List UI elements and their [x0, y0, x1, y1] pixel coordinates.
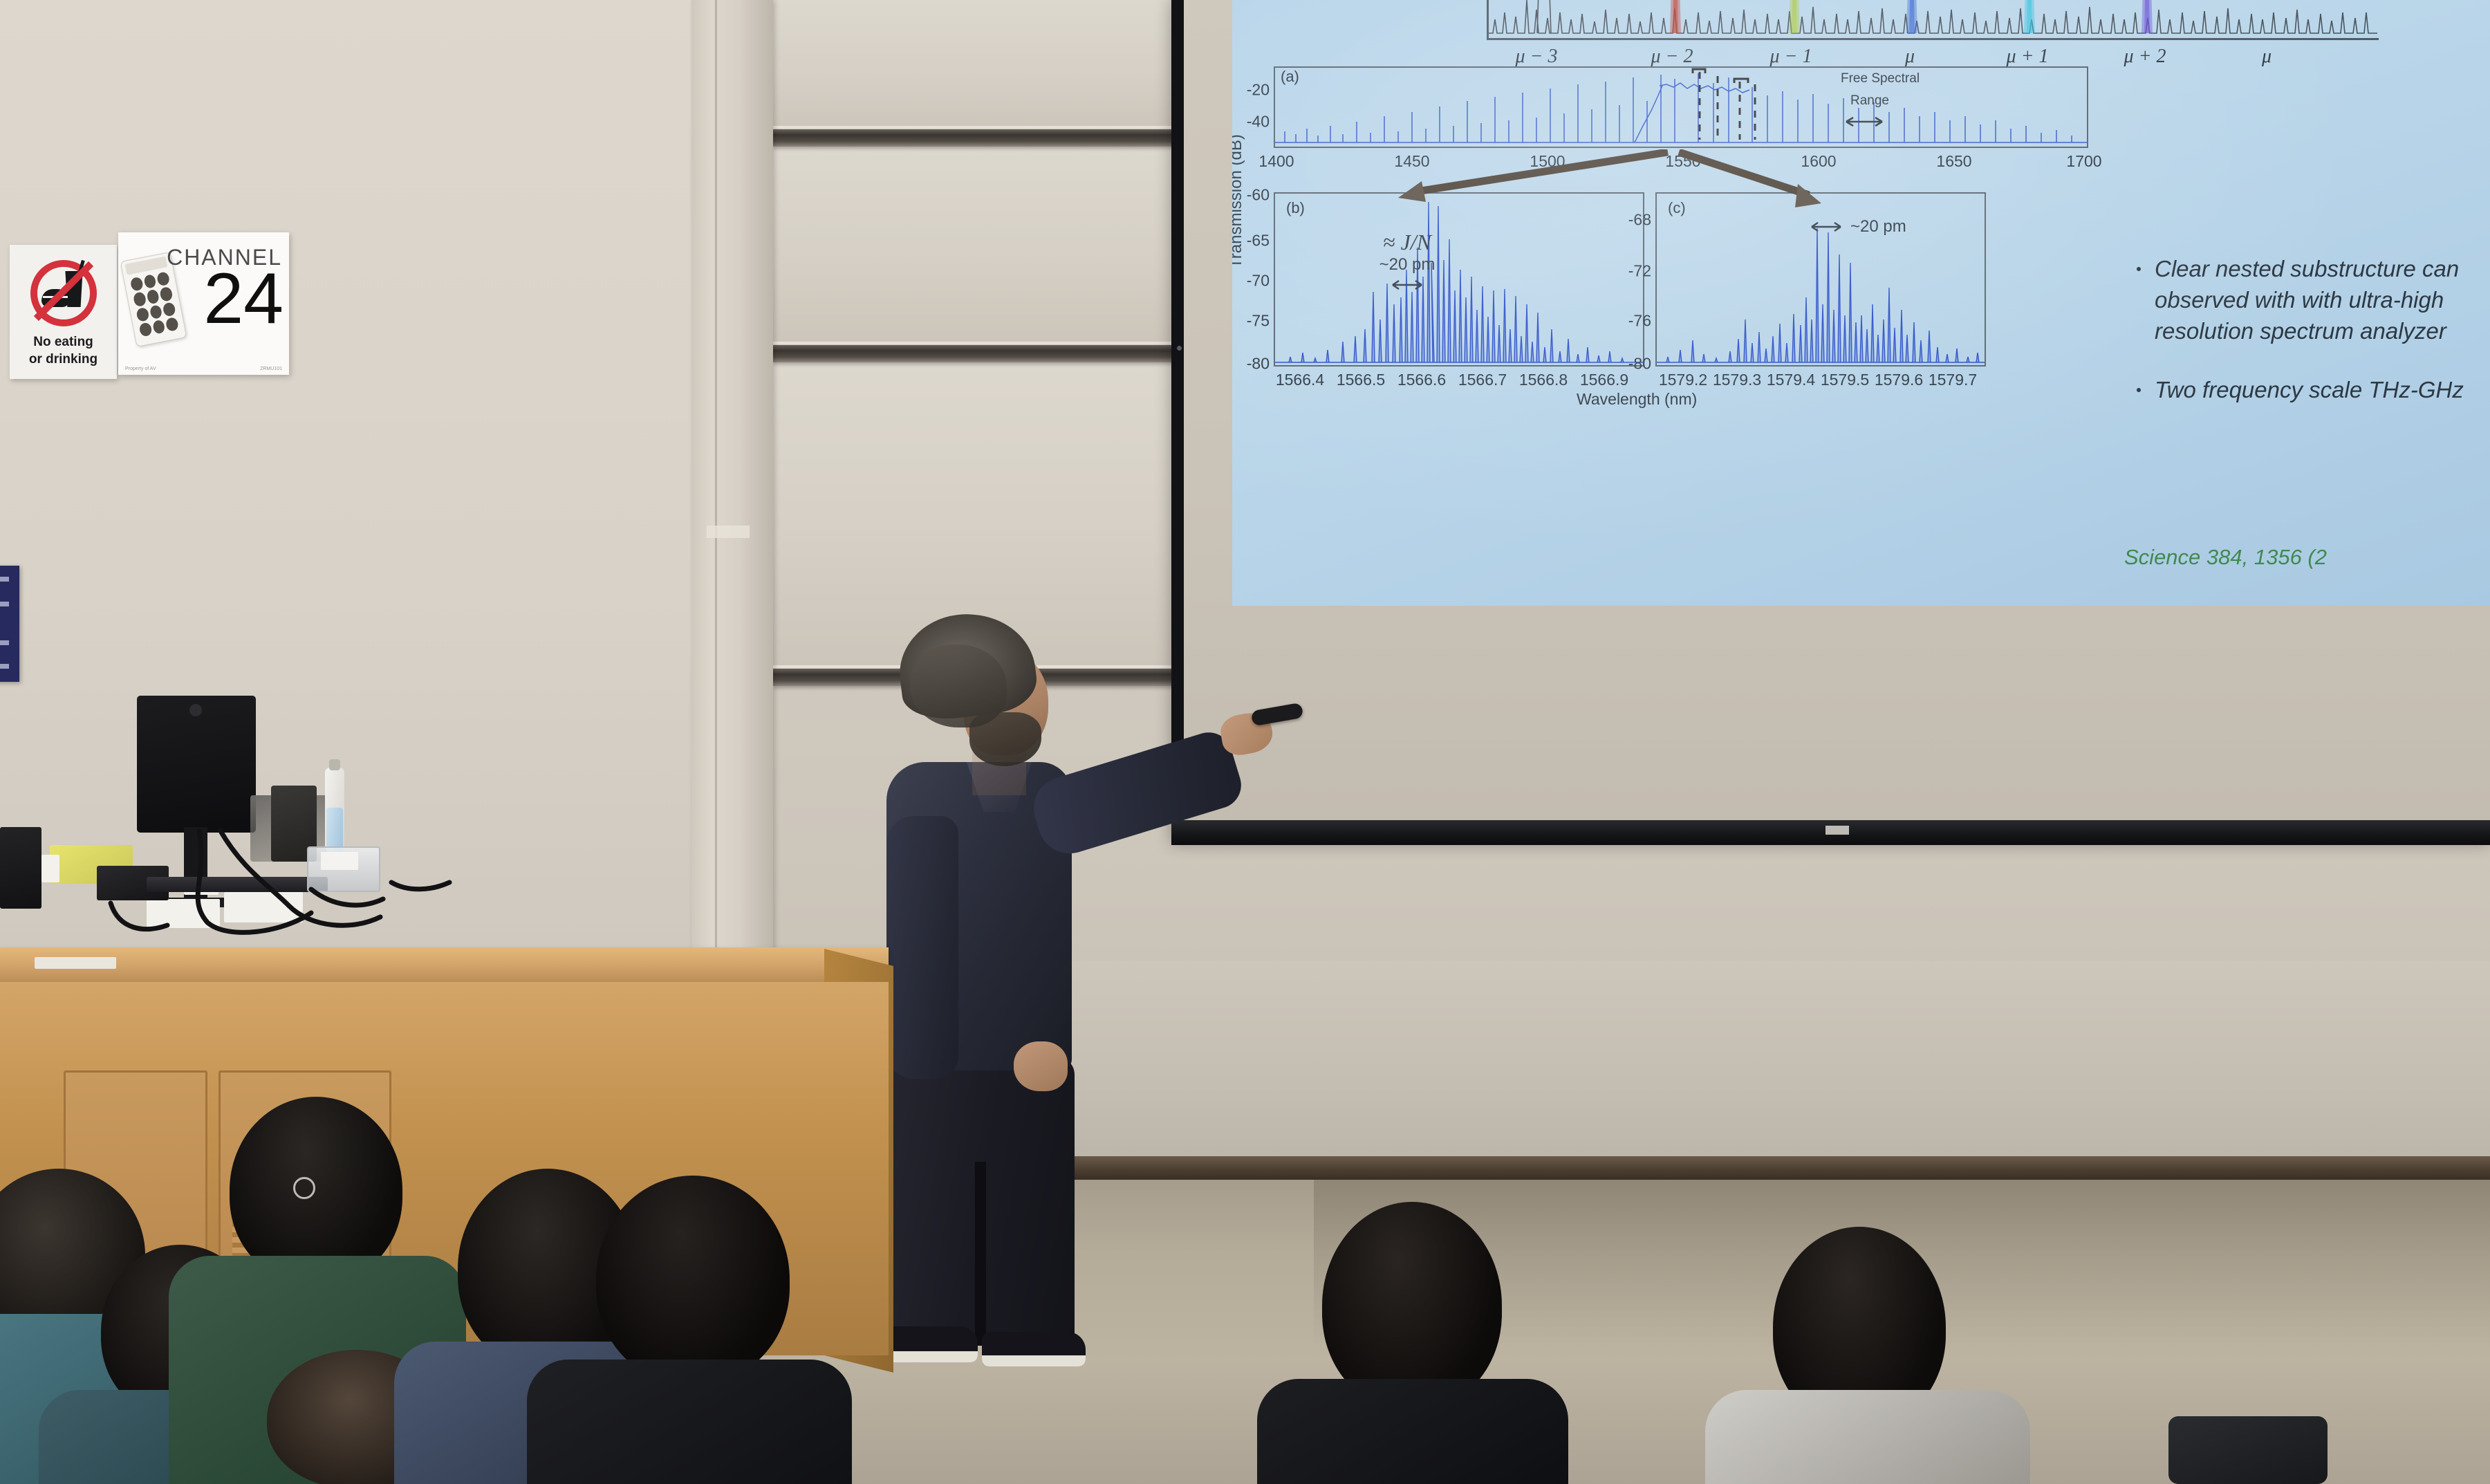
panel-b-annot-sub: ~20 pm [1341, 255, 1473, 275]
slide-bullet-list: Clear nested substructure can observed w… [2127, 253, 2490, 433]
panel-c-ytick-1: -72 [1606, 262, 1651, 281]
panel-b-xtick-5: 1566.9 [1580, 371, 1628, 389]
panel-b-xtick-3: 1566.7 [1458, 371, 1507, 389]
screen-bottom-tab [1825, 826, 1849, 835]
slide-bullet-0: Clear nested substructure can observed w… [2127, 253, 2490, 346]
slide-bullet-1: Two frequency scale THz-GHz [2127, 374, 2490, 405]
whiteboard-middle [773, 147, 1188, 354]
panel-c-xtick-4: 1579.6 [1875, 371, 1923, 389]
whiteboard-upper [773, 0, 1188, 138]
presenter-left-arm [886, 816, 958, 1079]
mu-tick-2: μ − 1 [1770, 46, 1812, 68]
monitor-webcam-icon [189, 704, 202, 716]
mu-tick-5: μ + 2 [2124, 46, 2166, 68]
whiteboard-rail-top [773, 129, 1188, 147]
sign-fineprint-right: ZRMU101 [260, 367, 282, 371]
panel-b-ytick-2: -70 [1232, 272, 1270, 290]
audience-head-6 [1322, 1202, 1502, 1409]
panel-b-annotation: ≈ J/N ~20 pm [1341, 230, 1473, 295]
comb-spectrum-svg [1489, 0, 2381, 40]
presenter-leg-gap [975, 1162, 986, 1346]
panel-c-xtick-3: 1579.5 [1821, 371, 1869, 389]
mu-tick-4: μ + 1 [2007, 46, 2049, 68]
fsr-double-arrow-icon [1845, 115, 1884, 129]
mu-tick-1: μ − 2 [1651, 46, 1693, 68]
lecture-hall-photo: No eating or drinking CHANNEL 24 Propert… [0, 0, 2490, 1484]
presenter-hair-shadow [910, 644, 1007, 727]
no-eating-sign: No eating or drinking [10, 245, 117, 379]
no-eating-line2: or drinking [10, 351, 117, 368]
audience-chair [2168, 1416, 2328, 1484]
panel-a-chart [1274, 66, 2088, 148]
panel-a-label: (a) [1281, 68, 1299, 86]
panel-b-label: (b) [1286, 199, 1305, 217]
panel-c-xtick-1: 1579.3 [1713, 371, 1761, 389]
x-axis-title: Wavelength (nm) [1577, 390, 1697, 409]
remote-keypad-icon [130, 271, 179, 337]
panel-b-xtick-4: 1566.8 [1519, 371, 1568, 389]
sign-fineprint-left: Property of AV [125, 367, 156, 371]
panel-b-xtick-2: 1566.6 [1397, 371, 1446, 389]
audience-head-5 [596, 1176, 790, 1383]
projected-slide: Edge Bulk Bulk Pump ≈ J μ − 3 μ − 2 μ − … [1232, 0, 2490, 606]
desk-paper-small [41, 855, 59, 882]
panel-a-ytick-1: -40 [1232, 113, 1270, 131]
presenter-left-shoe-sole [881, 1351, 978, 1362]
mu-tick-6: μ [2262, 46, 2271, 68]
panel-c-annot-sub: ~20 pm [1850, 217, 1906, 236]
panel-b-ytick-0: -60 [1232, 186, 1270, 205]
panel-b-ytick-1: -65 [1232, 232, 1270, 250]
panel-b-ytick-4: -80 [1232, 355, 1270, 373]
column-tape-mark [707, 526, 750, 538]
presenter-right-shoe-sole [982, 1355, 1086, 1366]
desk-speaker-box [0, 827, 41, 909]
panel-a-xtick-5: 1650 [1936, 152, 1971, 171]
whiteboard-rail-highlight-top [773, 126, 1188, 129]
panel-a-xtick-0: 1400 [1258, 152, 1294, 171]
no-eating-line1: No eating [10, 333, 117, 351]
structural-column [691, 0, 773, 1003]
whiteboard-rail-highlight-middle [773, 342, 1188, 345]
water-bottle-cap [329, 759, 340, 770]
fsr-label-line1: Free Spectral [1841, 71, 1920, 86]
audience-shoulders-7 [1705, 1390, 2030, 1484]
panel-a-svg [1275, 68, 2087, 147]
channel-sign: CHANNEL 24 Property of AV ZRMU101 [118, 232, 289, 375]
channel-number-label: 24 [203, 263, 284, 335]
slide-citation: Science 384, 1356 (2 [2124, 545, 2327, 570]
mu-tick-0: μ − 3 [1516, 46, 1558, 68]
audience-shoulders-6 [1257, 1379, 1568, 1484]
panel-c-ytick-2: -76 [1606, 312, 1651, 331]
panel-c-ytick-0: -68 [1606, 211, 1651, 230]
fsr-label-line2: Range [1850, 93, 1889, 109]
panel-c-xtick-0: 1579.2 [1659, 371, 1707, 389]
whiteboard-rail-middle [773, 344, 1188, 362]
presenter-left-hand [1014, 1041, 1068, 1091]
blue-wall-poster [0, 566, 19, 682]
column-seam [715, 0, 717, 1003]
desk-cable-bundle [104, 802, 491, 954]
panel-b-annot-main: ≈ J/N [1341, 230, 1473, 255]
audience-shoulders-5 [527, 1360, 852, 1484]
wall-signage: No eating or drinking CHANNEL 24 Propert… [10, 232, 289, 379]
panel-a-xtick-6: 1700 [2066, 152, 2101, 171]
panel-c-xtick-2: 1579.4 [1767, 371, 1815, 389]
panel-b-ytick-3: -75 [1232, 312, 1270, 331]
screen-frame-dot [1177, 346, 1182, 351]
panel-b-xtick-0: 1566.4 [1276, 371, 1324, 389]
no-eating-label: No eating or drinking [10, 333, 117, 368]
panel-b-xtick-1: 1566.5 [1337, 371, 1385, 389]
panel-c-annotation: ~20 pm [1810, 217, 1969, 236]
panel-b-span-arrow-icon [1391, 279, 1423, 291]
panel-c-xtick-5: 1579.7 [1929, 371, 1977, 389]
mu-tick-3: μ [1905, 46, 1915, 68]
panel-a-ytick-0: -20 [1232, 81, 1270, 100]
audience-glasses-icon [293, 1177, 315, 1199]
presenter-right-arm [1026, 727, 1247, 862]
panel-c-ytick-3: -80 [1606, 355, 1651, 373]
comb-spectrum-chart [1487, 0, 2379, 40]
callout-arrow-to-panel-c-icon [1633, 149, 1841, 209]
podium-label-plate [35, 957, 116, 969]
panel-c-span-arrow-icon [1810, 221, 1842, 233]
